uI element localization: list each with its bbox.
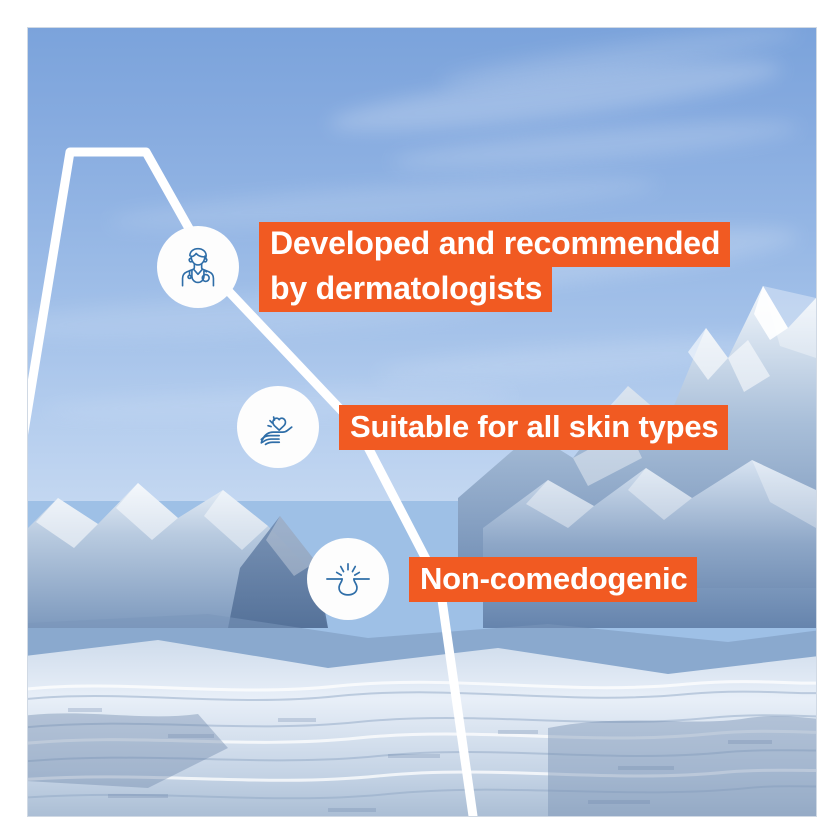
feature-label-group: Developed and recommended by dermatologi… [259,222,730,312]
feature-row-dermatologists: Developed and recommended by dermatologi… [157,222,730,312]
badge-circle [237,386,319,468]
feature-label-line: by dermatologists [259,267,552,312]
badge-circle [307,538,389,620]
feature-label-line: Non-comedogenic [409,557,697,602]
feature-row-skin-types: Suitable for all skin types [237,386,728,468]
feature-label-group: Suitable for all skin types [339,405,728,450]
badge-circle [157,226,239,308]
feature-row-non-comedogenic: Non-comedogenic [307,538,697,620]
feature-label-line: Suitable for all skin types [339,405,728,450]
hand-heart-icon [251,400,305,454]
banner-canvas: Developed and recommended by dermatologi… [0,0,840,840]
feature-label-line: Developed and recommended [259,222,730,267]
feature-label-group: Non-comedogenic [409,557,697,602]
skin-pore-icon [321,552,375,606]
doctor-stethoscope-icon [172,241,224,293]
